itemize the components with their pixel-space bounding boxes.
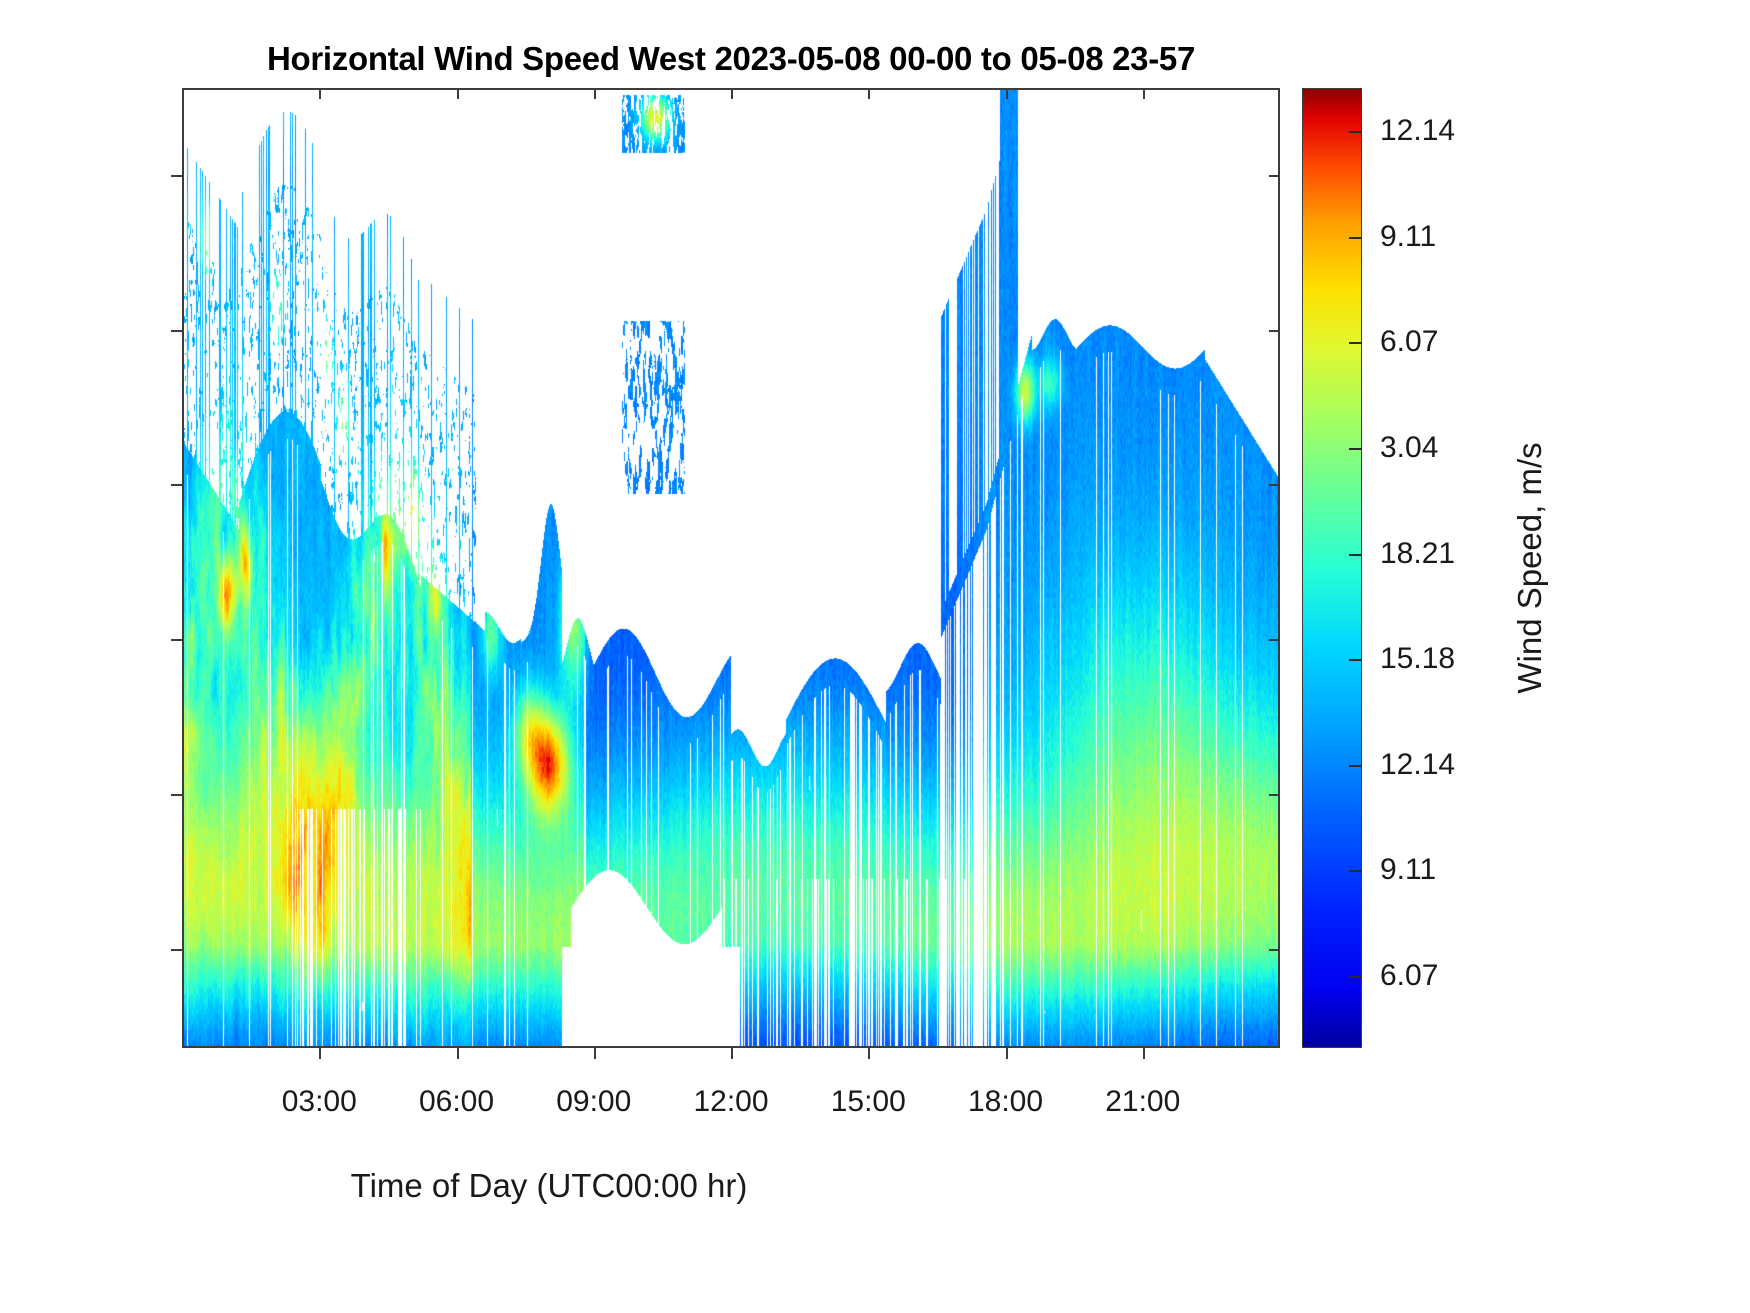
colorbar-tick-label: 6.07 — [1380, 959, 1438, 993]
colorbar-tick-label: 12.14 — [1380, 748, 1455, 782]
y-tick-mark — [171, 794, 182, 796]
y-tick-mark-inner — [1269, 484, 1280, 486]
colorbar-tick-mark — [1349, 448, 1362, 450]
x-tick-mark-inner — [868, 88, 870, 99]
colorbar — [1302, 88, 1362, 1048]
y-tick-label: 3 — [0, 158, 160, 192]
x-tick-mark-inner — [457, 88, 459, 99]
x-tick-mark — [457, 1048, 459, 1059]
colorbar-tick-mark — [1349, 342, 1362, 344]
plot-axes — [182, 88, 1280, 1048]
colorbar-tick-mark — [1349, 870, 1362, 872]
x-tick-label: 03:00 — [282, 1085, 357, 1119]
y-tick-mark-inner — [1269, 949, 1280, 951]
colorbar-gradient — [1303, 89, 1361, 1047]
colorbar-tick-mark — [1349, 554, 1362, 556]
y-tick-mark-inner — [1269, 175, 1280, 177]
x-tick-mark — [1143, 1048, 1145, 1059]
x-tick-label: 15:00 — [831, 1085, 906, 1119]
x-tick-mark — [1006, 1048, 1008, 1059]
x-tick-mark-inner — [319, 88, 321, 99]
colorbar-tick-label: 15.18 — [1380, 642, 1455, 676]
y-tick-mark — [171, 330, 182, 332]
y-tick-mark — [171, 175, 182, 177]
x-tick-mark — [868, 1048, 870, 1059]
x-axis-label: Time of Day (UTC00:00 hr) — [351, 1167, 748, 1205]
colorbar-tick-label: 12.14 — [1380, 114, 1455, 148]
x-tick-label: 21:00 — [1105, 1085, 1180, 1119]
colorbar-tick-label: 3.04 — [1380, 431, 1438, 465]
y-tick-mark-inner — [1269, 794, 1280, 796]
x-tick-mark-inner — [731, 88, 733, 99]
y-tick-mark-inner — [1269, 330, 1280, 332]
y-tick-mark-inner — [1269, 639, 1280, 641]
colorbar-tick-label: 9.11 — [1380, 853, 1436, 887]
colorbar-tick-mark — [1349, 765, 1362, 767]
heatmap-plot-area — [184, 90, 1278, 1046]
x-tick-label: 12:00 — [693, 1085, 768, 1119]
x-tick-label: 06:00 — [419, 1085, 494, 1119]
y-tick-label: 0.5 — [0, 932, 160, 966]
y-tick-mark — [171, 949, 182, 951]
colorbar-label: Wind Speed, m/s — [1511, 442, 1549, 693]
y-tick-mark — [171, 484, 182, 486]
page-title: Horizontal Wind Speed West 2023-05-08 00… — [182, 40, 1280, 78]
colorbar-tick-label: 6.07 — [1380, 325, 1438, 359]
colorbar-tick-mark — [1349, 976, 1362, 978]
y-tick-label: 2.5 — [0, 313, 160, 347]
figure-canvas: Horizontal Wind Speed West 2023-05-08 00… — [0, 0, 1750, 1313]
x-tick-mark — [731, 1048, 733, 1059]
y-tick-label: 1 — [0, 777, 160, 811]
x-tick-mark-inner — [1143, 88, 1145, 99]
x-tick-mark — [594, 1048, 596, 1059]
x-tick-mark-inner — [594, 88, 596, 99]
x-tick-label: 09:00 — [556, 1085, 631, 1119]
y-tick-mark — [171, 639, 182, 641]
y-tick-label: 1.5 — [0, 622, 160, 656]
x-tick-mark — [319, 1048, 321, 1059]
x-tick-label: 18:00 — [968, 1085, 1043, 1119]
colorbar-tick-mark — [1349, 659, 1362, 661]
colorbar-tick-mark — [1349, 237, 1362, 239]
colorbar-tick-mark — [1349, 131, 1362, 133]
heatmap-image — [184, 90, 1278, 1046]
colorbar-tick-label: 9.11 — [1380, 220, 1436, 254]
colorbar-tick-label: 18.21 — [1380, 537, 1455, 571]
y-tick-label: 2 — [0, 467, 160, 501]
x-tick-mark-inner — [1006, 88, 1008, 99]
